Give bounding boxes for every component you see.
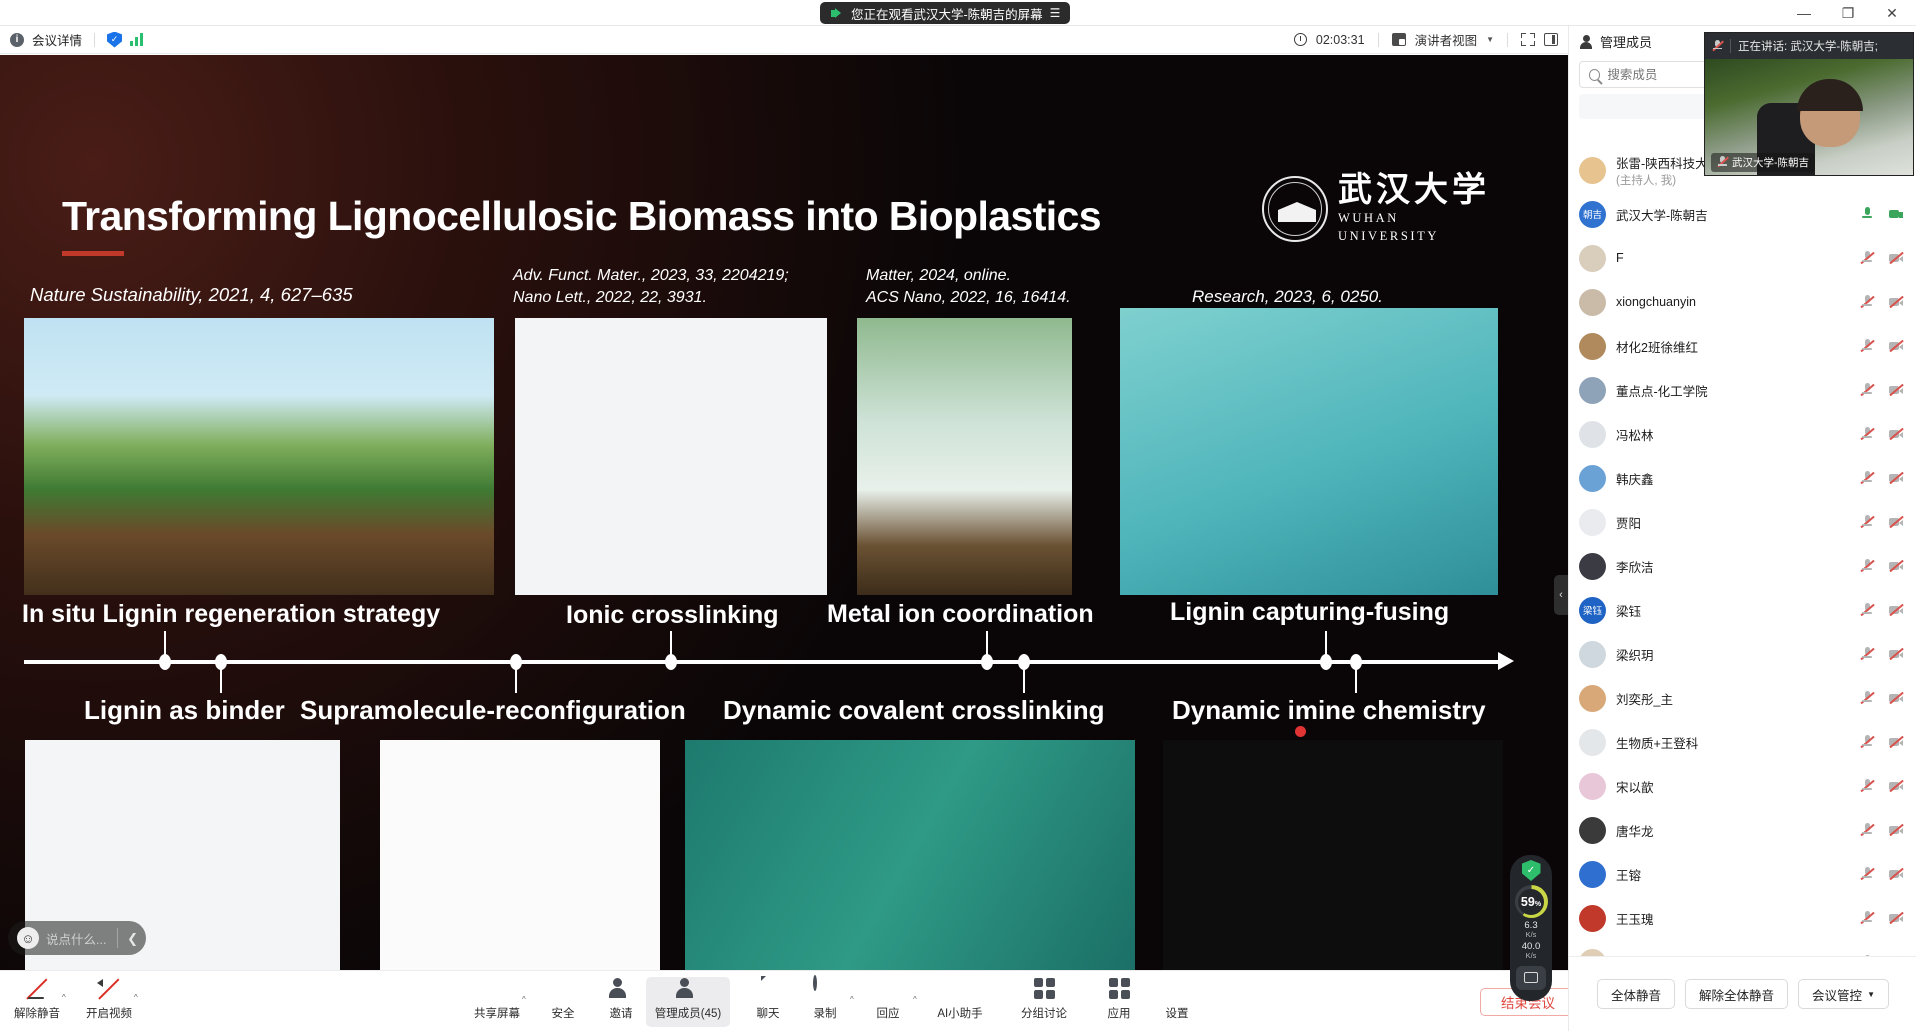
shield-icon <box>551 977 575 1001</box>
avatar <box>1579 905 1606 932</box>
toolbar-unmute-button[interactable]: 解除静音 ^ <box>4 977 70 1027</box>
divider <box>94 33 95 47</box>
screenshot-camera-icon[interactable] <box>1516 966 1546 990</box>
participant-name: 梁织玥 <box>1616 645 1654 664</box>
timeline-stem <box>1023 663 1025 693</box>
mic-muted-icon[interactable] <box>1860 339 1874 353</box>
divider <box>1730 39 1731 53</box>
camera-off-icon[interactable] <box>1889 251 1903 265</box>
timeline-node <box>159 654 171 670</box>
toolbar-invite-button[interactable]: 邀请 <box>588 977 654 1027</box>
timeline-axis <box>24 660 1504 664</box>
avatar <box>1579 553 1606 580</box>
caption-lower-4: Dynamic imine chemistry <box>1172 695 1486 726</box>
figure-supramolecule-reconfiguration <box>380 740 660 970</box>
participant-row[interactable]: 朝吉武汉大学-陈朝吉 <box>1569 192 1916 236</box>
mic-muted-icon[interactable] <box>1860 383 1874 397</box>
participants-panel-footer: 全体静音 解除全体静音 会议管控 ▼ <box>1569 956 1916 1031</box>
caption-upper-1: In situ Lignin regeneration strategy <box>22 600 440 629</box>
mic-muted-icon[interactable] <box>1860 911 1874 925</box>
camera-off-icon[interactable] <box>1889 559 1903 573</box>
caption-lower-3: Dynamic covalent crosslinking <box>723 695 1104 726</box>
toolbar-participants-label: 管理成员(45) <box>655 1005 721 1021</box>
timeline-stem <box>670 631 672 655</box>
toolbar-start-video-label: 开启视频 <box>86 1005 132 1021</box>
mic-muted-icon[interactable] <box>1860 559 1874 573</box>
timeline-stem <box>220 663 222 693</box>
toolbar-settings-label: 设置 <box>1166 1005 1189 1021</box>
pip-name-text: 武汉大学-陈朝吉 <box>1732 155 1809 170</box>
participant-name: 唐华龙 <box>1616 821 1654 840</box>
side-panel-icon[interactable] <box>1544 33 1558 46</box>
toolbar-security-button[interactable]: 安全 <box>530 977 596 1027</box>
pip-status-bar: 正在讲话: 武汉大学-陈朝吉; <box>1705 33 1913 59</box>
avatar <box>1579 333 1606 360</box>
figure-metal-ion-coordination <box>857 318 1072 595</box>
timeline-stem <box>986 631 988 655</box>
camera-off-icon[interactable] <box>1889 735 1903 749</box>
percent-sign: % <box>1535 901 1541 908</box>
participant-row[interactable]: F <box>1569 236 1916 280</box>
shared-screen-stage[interactable]: Transforming Lignocellulosic Biomass int… <box>0 55 1568 970</box>
participant-row[interactable]: 贾阳 <box>1569 500 1916 544</box>
mic-muted-icon[interactable] <box>1860 779 1874 793</box>
toolbar-record-button[interactable]: 录制 ^ <box>792 977 858 1027</box>
download-unit: K/s <box>1522 952 1541 960</box>
toolbar-record-label: 录制 <box>814 1005 837 1021</box>
figure-dynamic-covalent-crosslinking <box>685 740 1135 970</box>
floating-chat-input[interactable]: ☺ 说点什么... ❮ <box>8 921 146 955</box>
apps-grid-icon <box>1107 977 1131 1001</box>
camera-icon[interactable] <box>1893 159 1907 173</box>
toolbar-invite-label: 邀请 <box>610 1005 633 1021</box>
participants-icon <box>676 977 700 1001</box>
participant-media-icons <box>1860 603 1903 617</box>
meeting-timer: 02:03:31 <box>1316 33 1365 47</box>
close-icon: ✕ <box>1886 6 1898 20</box>
participants-icon <box>1579 35 1593 49</box>
participant-name: 宋以歆 <box>1616 777 1654 796</box>
timeline-node <box>1320 654 1332 670</box>
participant-row[interactable]: 冯松林 <box>1569 412 1916 456</box>
usage-percent: 59 <box>1521 895 1535 909</box>
participant-row[interactable]: 梁钰梁钰 <box>1569 588 1916 632</box>
participant-name: 刘奕彤_主 <box>1616 689 1673 708</box>
participant-row[interactable]: 李欣洁 <box>1569 544 1916 588</box>
participant-row[interactable]: 王镕 <box>1569 852 1916 896</box>
camera-off-icon[interactable] <box>1889 823 1903 837</box>
mic-muted-icon[interactable] <box>1860 251 1874 265</box>
chat-input-placeholder[interactable]: 说点什么... <box>46 929 106 948</box>
presentation-slide: Transforming Lignocellulosic Biomass int… <box>0 55 1568 970</box>
avatar <box>1579 861 1606 888</box>
toolbar-breakout-rooms-label: 分组讨论 <box>1021 1005 1067 1021</box>
avatar: 朝吉 <box>1579 201 1606 228</box>
participant-media-icons <box>1860 559 1903 573</box>
avatar <box>1579 773 1606 800</box>
chevron-up-icon[interactable]: ^ <box>134 993 138 1002</box>
close-button[interactable]: ✕ <box>1870 0 1914 26</box>
meeting-toolbar: 解除静音 ^ 开启视频 ^ 共享屏幕 ^ 安全 邀请 管理成员(45) <box>0 970 1568 1031</box>
figure-dynamic-imine-chemistry <box>1163 740 1503 970</box>
meeting-details-label[interactable]: 会议详情 <box>32 30 82 49</box>
emoji-icon[interactable]: ☺ <box>17 927 39 949</box>
window-title-bar: 您正在观看武汉大学-陈朝吉的屏幕 ☰ — ❐ ✕ <box>0 0 1916 26</box>
participants-panel-title: 管理成员 <box>1600 32 1652 51</box>
participant-name: 韩庆鑫 <box>1616 469 1654 488</box>
participant-name: 王镕 <box>1616 865 1641 884</box>
breakout-rooms-icon <box>1032 977 1056 1001</box>
timeline-stem <box>164 631 166 655</box>
participant-media-icons <box>1860 383 1903 397</box>
mic-muted-icon[interactable] <box>1860 867 1874 881</box>
avatar <box>1579 509 1606 536</box>
share-banner-text: 您正在观看武汉大学-陈朝吉的屏幕 <box>851 4 1043 23</box>
meeting-control-button[interactable]: 会议管控 ▼ <box>1798 979 1889 1009</box>
camera-off-icon[interactable] <box>1889 383 1903 397</box>
toolbar-share-screen-label: 共享屏幕 <box>474 1005 520 1021</box>
mic-muted-icon[interactable] <box>1860 691 1874 705</box>
caption-lower-2: Supramolecule-reconfiguration <box>300 695 686 726</box>
participant-row[interactable]: 董点点-化工学院 <box>1569 368 1916 412</box>
ai-assistant-icon <box>948 977 972 1001</box>
collapse-panel-handle[interactable]: ‹ <box>1554 575 1568 615</box>
wuhan-university-logo: 武汉大学 WUHAN UNIVERSITY <box>1262 173 1492 245</box>
caption-upper-4: Lignin capturing-fusing <box>1170 598 1449 627</box>
participant-name: 武汉大学-陈朝吉 <box>1616 205 1708 224</box>
participant-row[interactable]: 梁织玥 <box>1569 632 1916 676</box>
person-hair-shape <box>1797 79 1863 111</box>
avatar <box>1579 641 1606 668</box>
toolbar-chat-label: 聊天 <box>757 1005 780 1021</box>
participant-row[interactable]: 韩庆鑫 <box>1569 456 1916 500</box>
figure-lignin-regeneration <box>24 318 494 595</box>
toolbar-settings-button[interactable]: 设置 <box>1144 977 1210 1027</box>
toolbar-apps-label: 应用 <box>1108 1005 1131 1021</box>
avatar <box>1579 685 1606 712</box>
mic-muted-icon[interactable] <box>1860 427 1874 441</box>
caption-upper-3: Metal ion coordination <box>827 600 1094 629</box>
participant-media-icons <box>1860 823 1903 837</box>
caption-lower-1: Lignin as binder <box>84 695 285 726</box>
divider <box>1378 33 1379 47</box>
toolbar-ai-assistant-label: AI小助手 <box>937 1005 982 1021</box>
maximize-icon: ❐ <box>1842 6 1855 20</box>
record-icon <box>813 977 837 1001</box>
speaker-icon <box>831 8 844 19</box>
participant-media-icons <box>1860 867 1903 881</box>
citation-2: Adv. Funct. Mater., 2023, 33, 2204219; <box>513 267 789 285</box>
download-rate: 40.0 K/s <box>1522 942 1541 960</box>
participant-row[interactable]: 生物质+王登科 <box>1569 720 1916 764</box>
timeline-node <box>981 654 993 670</box>
avatar <box>1579 289 1606 316</box>
citation-6: Research, 2023, 6, 0250. <box>1192 287 1383 307</box>
toolbar-breakout-rooms-button[interactable]: 分组讨论 <box>1002 977 1086 1027</box>
camera-off-icon[interactable] <box>1889 867 1903 881</box>
timeline-node <box>665 654 677 670</box>
unmute-all-button[interactable]: 解除全体静音 <box>1685 979 1788 1009</box>
timeline-arrow-icon <box>1498 652 1514 670</box>
camera-off-icon[interactable] <box>1889 603 1903 617</box>
mic-muted-icon[interactable] <box>1860 603 1874 617</box>
camera-off-icon[interactable] <box>1889 471 1903 485</box>
mic-muted-icon[interactable] <box>1860 295 1874 309</box>
minimize-icon: — <box>1797 6 1811 20</box>
active-speaker-text: 正在讲话: 武汉大学-陈朝吉; <box>1738 38 1878 54</box>
university-seal-icon <box>1262 176 1328 242</box>
pip-video-feed: 武汉大学-陈朝吉 <box>1705 59 1913 176</box>
chevron-up-icon[interactable]: ^ <box>913 995 917 1004</box>
fullscreen-icon[interactable] <box>1521 33 1535 46</box>
participant-media-icons <box>1860 471 1903 485</box>
camera-off-icon[interactable] <box>1889 427 1903 441</box>
participant-row[interactable]: 宋以歆 <box>1569 764 1916 808</box>
camera-off-icon[interactable] <box>1889 911 1903 925</box>
camera-off-icon[interactable] <box>1889 295 1903 309</box>
participant-name: 材化2班徐维红 <box>1616 337 1698 356</box>
clock-icon <box>1294 33 1307 46</box>
speaker-view-icon <box>1392 33 1406 46</box>
camera-off-icon[interactable] <box>1889 515 1903 529</box>
participant-media-icons <box>1860 735 1903 749</box>
divider <box>1507 33 1508 47</box>
participant-media-icons <box>1860 339 1903 353</box>
toolbar-security-label: 安全 <box>552 1005 575 1021</box>
network-signal-icon[interactable] <box>130 33 143 46</box>
participant-media-icons <box>1860 911 1903 925</box>
maximize-button[interactable]: ❐ <box>1826 0 1870 26</box>
pip-name-label: 武汉大学-陈朝吉 <box>1711 153 1815 172</box>
upload-rate: 6.3 K/s <box>1524 921 1537 939</box>
timeline-stem <box>1355 663 1357 693</box>
screen-share-banner[interactable]: 您正在观看武汉大学-陈朝吉的屏幕 ☰ <box>820 2 1070 24</box>
security-shield-icon[interactable] <box>107 32 122 48</box>
invite-person-icon <box>609 977 633 1001</box>
slide-title: Transforming Lignocellulosic Biomass int… <box>62 193 1101 240</box>
participant-name: 董点点-化工学院 <box>1616 381 1708 400</box>
meeting-control-label: 会议管控 <box>1812 985 1862 1004</box>
search-icon <box>1589 69 1600 81</box>
university-name-cn: 武汉大学 <box>1338 170 1490 210</box>
participant-row[interactable]: 王玉瑰 <box>1569 896 1916 940</box>
citation-3: Nano Lett., 2022, 22, 3931. <box>513 289 707 307</box>
participant-media-icons <box>1860 647 1903 661</box>
participant-media-icons <box>1860 251 1903 265</box>
participants-panel: 管理成员 ✕ 会议中(45) 张雷-陕西科技大学(主持人, 我)朝吉武汉大学-陈… <box>1568 26 1916 1031</box>
minimize-button[interactable]: — <box>1782 0 1826 26</box>
participant-name: xiongchuanyin <box>1616 295 1696 309</box>
participant-list[interactable]: 张雷-陕西科技大学(主持人, 我)朝吉武汉大学-陈朝吉Fxiongchuanyi… <box>1569 148 1916 982</box>
chevron-up-icon[interactable]: ^ <box>62 993 66 1002</box>
participant-row[interactable]: 材化2班徐维红 <box>1569 324 1916 368</box>
raise-hand-icon <box>876 977 900 1001</box>
pip-controls[interactable] <box>1849 159 1907 173</box>
participant-name: 冯松林 <box>1616 425 1654 444</box>
mic-muted-icon[interactable] <box>1860 823 1874 837</box>
citation-5: ACS Nano, 2022, 16, 16414. <box>866 289 1071 307</box>
chat-bubble-icon <box>756 977 780 1001</box>
camera-off-icon[interactable] <box>1889 779 1903 793</box>
participant-media-icons <box>1860 515 1903 529</box>
toolbar-start-video-button[interactable]: 开启视频 ^ <box>76 977 142 1027</box>
view-mode-label[interactable]: 演讲者视图 <box>1415 30 1478 49</box>
speaker-video-thumbnail[interactable]: 正在讲话: 武汉大学-陈朝吉; 武汉大学-陈朝吉 <box>1704 32 1914 176</box>
meeting-header-bar: i 会议详情 02:03:31 演讲者视图 ▼ <box>0 26 1568 54</box>
mic-muted-icon[interactable] <box>1860 647 1874 661</box>
chevron-left-icon[interactable]: ❮ <box>127 931 138 947</box>
meeting-app-window: 您正在观看武汉大学-陈朝吉的屏幕 ☰ — ❐ ✕ i 会议详情 02:03:31… <box>0 0 1916 1031</box>
toolbar-share-screen-button[interactable]: 共享屏幕 ^ <box>464 977 530 1027</box>
camera-off-icon[interactable] <box>1889 647 1903 661</box>
mic-muted-icon <box>1717 156 1728 169</box>
camera-off-icon[interactable] <box>1889 691 1903 705</box>
chevron-up-icon[interactable]: ^ <box>850 995 854 1004</box>
participant-row[interactable]: 唐华龙 <box>1569 808 1916 852</box>
avatar: 梁钰 <box>1579 597 1606 624</box>
mic-muted-icon <box>25 977 49 1001</box>
gear-icon <box>1165 977 1189 1001</box>
participant-name: 贾阳 <box>1616 513 1641 532</box>
figure-lignin-capturing-fusing <box>1120 308 1498 595</box>
university-name-en: WUHAN UNIVERSITY <box>1338 211 1439 243</box>
banner-menu-icon[interactable]: ☰ <box>1050 6 1060 20</box>
chevron-up-icon[interactable]: ^ <box>522 995 526 1004</box>
avatar <box>1579 377 1606 404</box>
mic-icon[interactable] <box>1871 159 1885 173</box>
participant-media-icons <box>1860 207 1903 221</box>
mute-all-button[interactable]: 全体静音 <box>1597 979 1675 1009</box>
mic-muted-icon[interactable] <box>1860 735 1874 749</box>
camera-off-icon[interactable] <box>1889 339 1903 353</box>
participant-media-icons <box>1860 427 1903 441</box>
toolbar-apps-button[interactable]: 应用 <box>1086 977 1152 1027</box>
share-screen-icon <box>485 977 509 1001</box>
timeline-stem <box>1325 631 1327 655</box>
title-underline <box>62 251 124 256</box>
mic-muted-icon <box>1712 40 1723 53</box>
timeline-stem <box>515 663 517 693</box>
toolbar-participants-button[interactable]: 管理成员(45) <box>646 977 730 1027</box>
toolbar-unmute-label: 解除静音 <box>14 1005 60 1021</box>
toolbar-reaction-button[interactable]: 回应 ^ <box>855 977 921 1027</box>
participant-name: F <box>1616 251 1624 265</box>
participant-media-icons <box>1860 295 1903 309</box>
toolbar-reaction-label: 回应 <box>877 1005 900 1021</box>
toolbar-ai-assistant-button[interactable]: AI小助手 <box>918 977 1002 1027</box>
chevron-down-icon: ▼ <box>1867 990 1875 999</box>
mic-icon[interactable] <box>1860 207 1874 221</box>
participant-name: 生物质+王登科 <box>1616 733 1698 752</box>
mic-muted-icon[interactable] <box>1860 515 1874 529</box>
chevron-down-icon[interactable]: ▼ <box>1486 35 1494 44</box>
caption-upper-2: Ionic crosslinking <box>566 601 779 630</box>
participant-name: 梁钰 <box>1616 601 1641 620</box>
participant-media-icons <box>1860 779 1903 793</box>
shield-check-icon[interactable] <box>1522 860 1541 881</box>
figure-ionic-crosslinking <box>515 318 827 595</box>
avatar <box>1579 245 1606 272</box>
avatar <box>1579 157 1606 184</box>
participant-row[interactable]: 刘奕彤_主 <box>1569 676 1916 720</box>
avatar <box>1579 421 1606 448</box>
upload-unit: K/s <box>1524 931 1537 939</box>
participant-name: 李欣洁 <box>1616 557 1654 576</box>
avatar <box>1579 817 1606 844</box>
cpu-usage-ring: 59% <box>1515 885 1548 918</box>
pin-icon[interactable] <box>1849 159 1863 173</box>
citation-1: Nature Sustainability, 2021, 4, 627–635 <box>30 284 353 306</box>
citation-4: Matter, 2024, online. <box>866 267 1011 285</box>
participant-name: 王玉瑰 <box>1616 909 1654 928</box>
camera-icon[interactable] <box>1889 207 1903 221</box>
avatar <box>1579 729 1606 756</box>
mic-muted-icon[interactable] <box>1860 471 1874 485</box>
avatar <box>1579 465 1606 492</box>
laser-pointer-dot <box>1295 726 1306 737</box>
participant-media-icons <box>1860 691 1903 705</box>
camera-off-icon <box>97 977 121 1001</box>
divider <box>117 928 118 948</box>
floating-system-widget[interactable]: 59% 6.3 K/s 40.0 K/s <box>1510 855 1552 1001</box>
participant-row[interactable]: xiongchuanyin <box>1569 280 1916 324</box>
info-icon: i <box>10 33 24 47</box>
